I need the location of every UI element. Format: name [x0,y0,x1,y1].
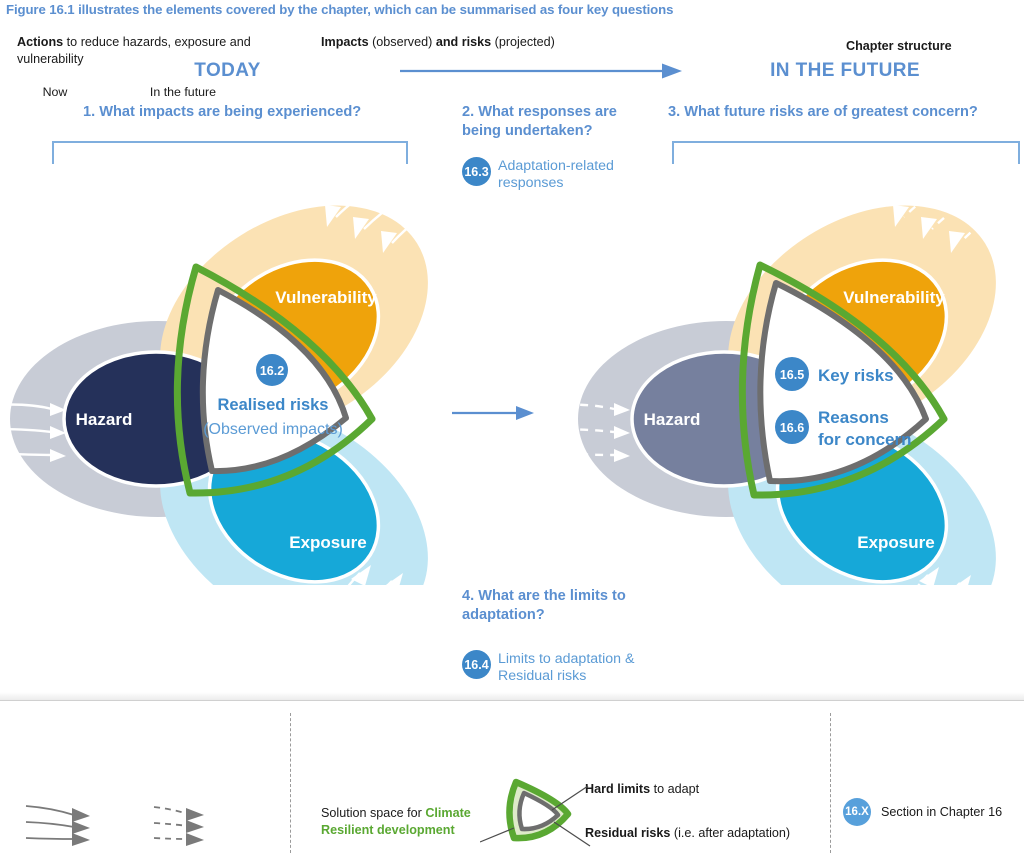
legend-divider-1 [290,713,291,853]
section-badge-16-6: 16.6 [780,421,804,435]
legend-actions-bold: Actions [17,35,63,49]
question-4-title: 4. What are the limits to adaptation? [462,587,662,624]
legend-residual-risks-label: Residual risks (i.e. after adaptation) [585,825,885,842]
legend-impacts-bold: Impacts [321,35,369,49]
legend-risks-bold: and risks [436,35,491,49]
legend-solution-space-shape-icon [480,770,610,855]
vulnerability-label: Vulnerability [275,288,377,307]
legend-shadow [0,692,1024,701]
hazard-label: Hazard [76,410,133,429]
era-label-future: IN THE FUTURE [690,60,1000,82]
legend-solution-space-label: Solution space for Climate Resilient dev… [321,805,491,839]
legend-actions-title: Actions to reduce hazards, exposure and … [17,34,267,68]
hazard-label: Hazard [644,410,701,429]
section-badge-16-2: 16.2 [260,364,284,378]
figure-caption: Figure 16.1 illustrates the elements cov… [6,2,1016,17]
legend-future-label: In the future [135,85,231,99]
section-label-16-4: Limits to adaptation & Residual risks [498,650,662,685]
question-2-title: 2. What responses are being undertaken? [462,103,647,140]
legend-chapter-text: Section in Chapter 16 [881,805,1002,819]
section-badge-16-5: 16.5 [780,368,804,382]
reasons-for-concern-line1: Reasons [818,408,889,427]
section-badge-16-3: 16.3 [462,157,491,186]
legend-hard-limits-rest: to adapt [650,782,699,796]
legend-solution-green-2: Resilient development [321,823,455,837]
legend-solid-arrows-icon [24,800,104,848]
legend-now-label: Now [22,85,88,99]
vulnerability-label: Vulnerability [843,288,945,307]
legend-dashed-arrows-icon [152,800,224,848]
legend-chapter-section-row: 16.X Section in Chapter 16 [843,798,1002,826]
key-risks-label: Key risks [818,366,894,385]
legend-solution-green-1: Climate [425,806,471,820]
legend-impacts-observed: (observed) [369,35,436,49]
question-1-title: 1. What impacts are being experienced? [83,103,443,122]
timeline-arrow-icon [400,58,685,84]
legend-risks-projected: (projected) [491,35,555,49]
realised-risks-title: Realised risks [218,396,329,414]
exposure-label: Exposure [289,533,366,552]
reasons-for-concern-line2: for concern [818,430,912,449]
legend-hard-limits-label: Hard limits to adapt [585,781,825,798]
legend-impacts-title: Impacts (observed) and risks (projected) [321,34,801,51]
legend-chapter-structure-bold: Chapter structure [846,39,952,53]
question-3-title: 3. What future risks are of greatest con… [668,103,1024,122]
legend-chapter-badge: 16.X [843,798,871,826]
legend-chapter-structure-title: Chapter structure [846,38,1016,55]
section-badge-16-4: 16.4 [462,650,491,679]
section-16-4-row: 16.4 Limits to adaptation & Residual ris… [462,650,662,685]
legend-solution-prefix: Solution space for [321,806,425,820]
progression-arrow-icon [452,402,536,424]
venn-diagram-future: Hazard Vulnerability Exposure 16.5 Key r… [562,155,1024,585]
realised-risks-subtitle: (Observed impacts) [203,421,343,438]
exposure-label: Exposure [857,533,934,552]
legend-residual-rest: (i.e. after adaptation) [670,826,790,840]
venn-diagram-today: Hazard Vulnerability Exposure 16.2 Reali… [0,155,454,585]
